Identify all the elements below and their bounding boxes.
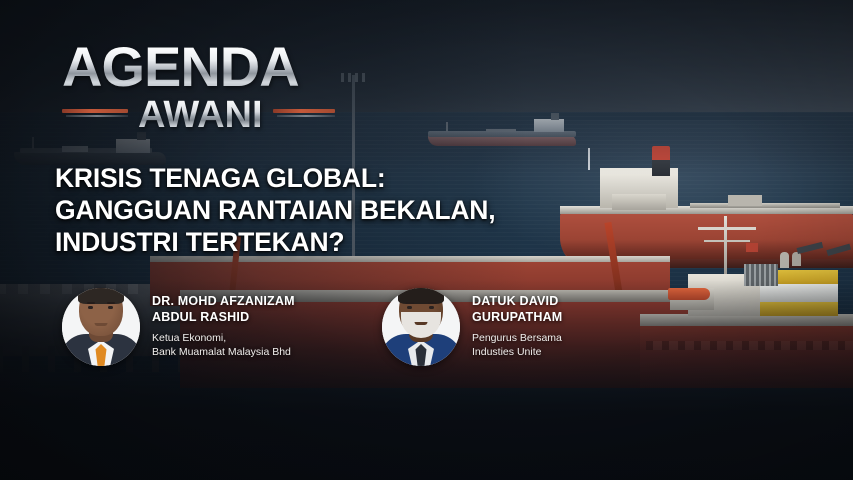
speaker-1-role-line-2: Bank Muamalat Malaysia Bhd: [152, 346, 295, 360]
headline-line-3: INDUSTRI TERTEKAN?: [55, 227, 535, 259]
speaker-card-2: DATUK DAVID GURUPATHAM Pengurus Bersama …: [382, 288, 562, 366]
speaker-2-name-line-2: GURUPATHAM: [472, 310, 562, 325]
speaker-1-role: Ketua Ekonomi, Bank Muamalat Malaysia Bh…: [152, 332, 295, 360]
avatar-datuk-david-gurupatham: [382, 288, 460, 366]
speaker-2-role-line-2: Industies Unite: [472, 346, 562, 360]
avatar-mohd-afzanizam: [62, 288, 140, 366]
speaker-2-name: DATUK DAVID GURUPATHAM: [472, 294, 562, 325]
speaker-2-name-line-1: DATUK DAVID: [472, 294, 562, 309]
logo-agenda-text: AGENDA: [62, 40, 322, 94]
agenda-awani-logo: AGENDA AWANI: [62, 40, 322, 140]
speaker-1-text: DR. MOHD AFZANIZAM ABDUL RASHID Ketua Ek…: [152, 294, 295, 359]
headline-line-1: KRISIS TENAGA GLOBAL:: [55, 163, 535, 195]
speaker-1-role-line-1: Ketua Ekonomi,: [152, 332, 295, 346]
logo-dash-right: [273, 109, 335, 120]
speaker-2-role: Pengurus Bersama Industies Unite: [472, 332, 562, 360]
speaker-2-role-line-1: Pengurus Bersama: [472, 332, 562, 346]
speaker-card-1: DR. MOHD AFZANIZAM ABDUL RASHID Ketua Ek…: [62, 288, 295, 366]
speaker-1-name: DR. MOHD AFZANIZAM ABDUL RASHID: [152, 294, 295, 325]
headline-line-2: GANGGUAN RANTAIAN BEKALAN,: [55, 195, 535, 227]
page-title: KRISIS TENAGA GLOBAL: GANGGUAN RANTAIAN …: [55, 163, 535, 258]
logo-awani-row: AWANI: [62, 96, 322, 134]
logo-awani-text: AWANI: [128, 96, 273, 134]
speaker-1-name-line-2: ABDUL RASHID: [152, 310, 295, 325]
speaker-1-name-line-1: DR. MOHD AFZANIZAM: [152, 294, 295, 309]
speaker-2-text: DATUK DAVID GURUPATHAM Pengurus Bersama …: [472, 294, 562, 359]
logo-dash-left: [62, 109, 128, 120]
broadcast-graphic: AGENDA AWANI KRISIS TENAGA GLOBAL: GANGG…: [0, 0, 853, 480]
